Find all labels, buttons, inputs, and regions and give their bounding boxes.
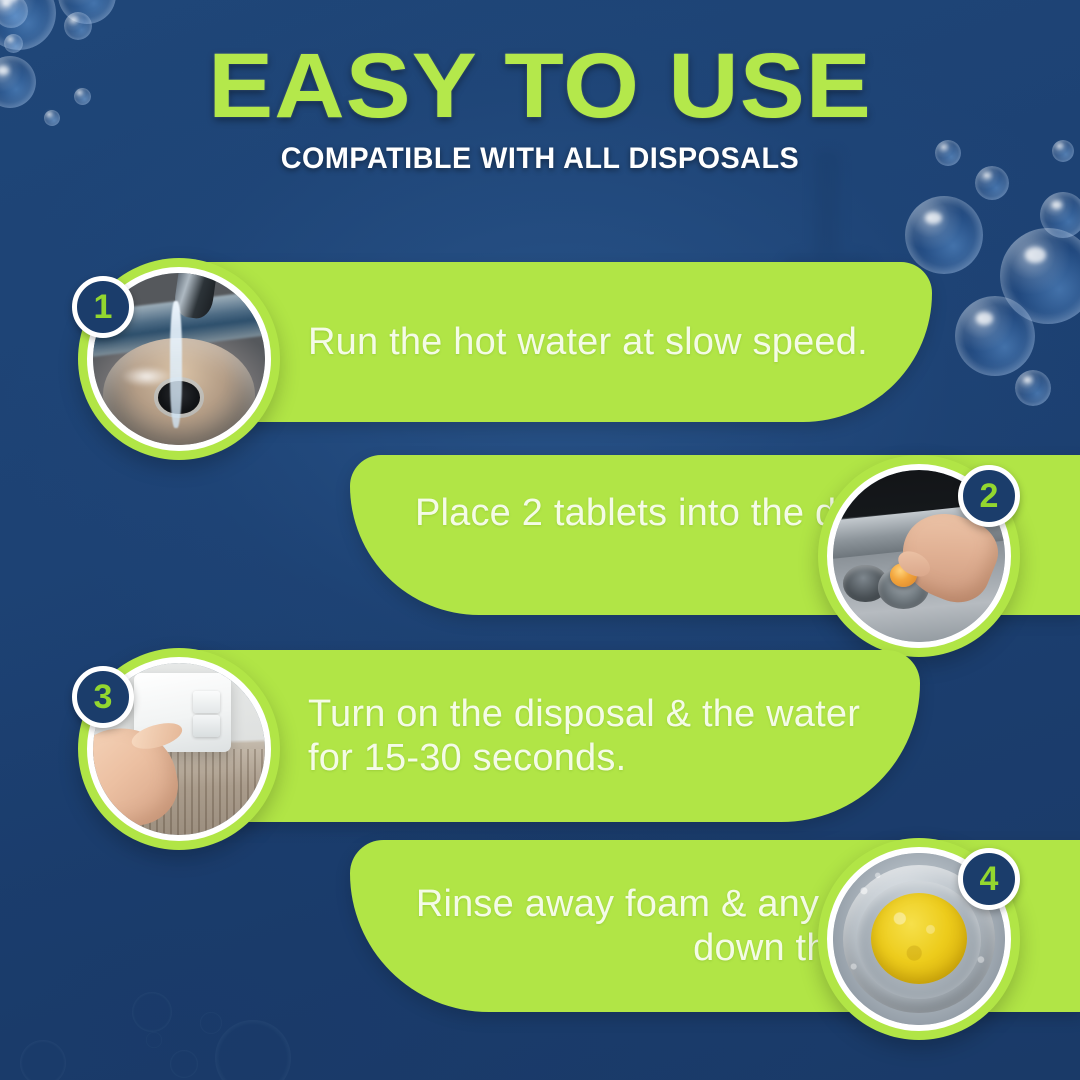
soap-bubble xyxy=(905,196,983,274)
step-4-number-badge: 4 xyxy=(958,848,1020,910)
soap-bubble xyxy=(1015,370,1051,406)
page-title: EASY TO USE xyxy=(0,42,1080,130)
step-3-number-badge: 3 xyxy=(72,666,134,728)
infographic-poster: EASY TO USE COMPATIBLE WITH ALL DISPOSAL… xyxy=(0,0,1080,1080)
soap-bubble xyxy=(955,296,1035,376)
soap-bubble xyxy=(200,1012,222,1034)
poster-header: EASY TO USE COMPATIBLE WITH ALL DISPOSAL… xyxy=(0,42,1080,176)
soap-bubble xyxy=(215,1020,291,1080)
soap-bubble xyxy=(64,12,92,40)
soap-bubble xyxy=(20,1040,66,1080)
soap-bubble xyxy=(132,992,172,1032)
step-3-text-bar: Turn on the disposal & the water for 15-… xyxy=(180,650,920,822)
step-1-text-bar: Run the hot water at slow speed. xyxy=(180,262,932,422)
step-1-text: Run the hot water at slow speed. xyxy=(308,320,876,364)
soap-bubble xyxy=(146,1032,162,1048)
step-1-number-badge: 1 xyxy=(72,276,134,338)
soap-bubble xyxy=(170,1050,198,1078)
step-2-number-badge: 2 xyxy=(958,465,1020,527)
page-subtitle: COMPATIBLE WITH ALL DISPOSALS xyxy=(22,142,1059,176)
step-3-text: Turn on the disposal & the water for 15-… xyxy=(308,692,876,780)
